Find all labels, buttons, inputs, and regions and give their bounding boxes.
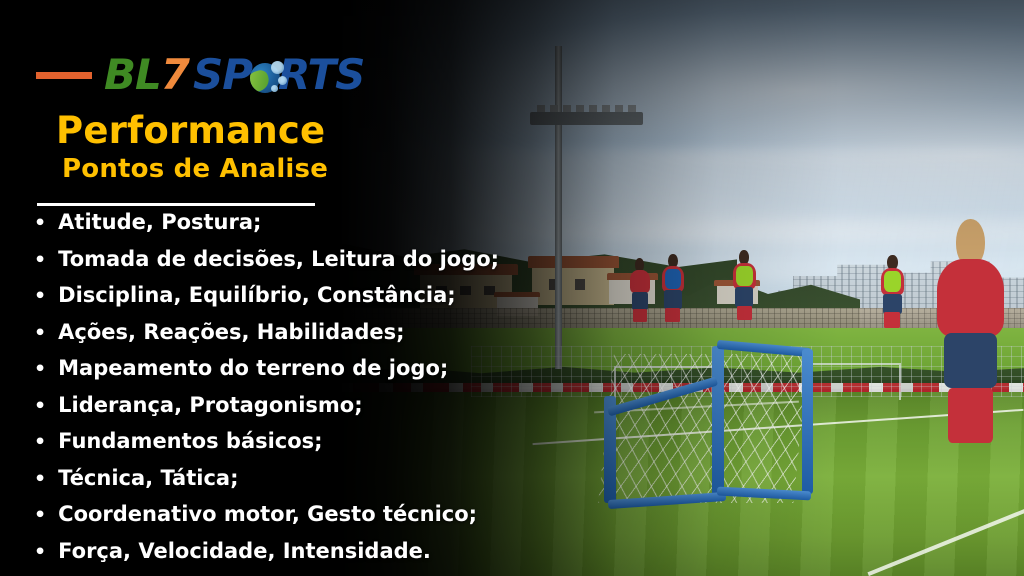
bullet-marker-icon: • bbox=[34, 251, 46, 270]
list-item-label: Ações, Reações, Habilidades; bbox=[58, 322, 404, 343]
list-item-label: Coordenativo motor, Gesto técnico; bbox=[58, 504, 477, 525]
list-item: •Mapeamento do terreno de jogo; bbox=[34, 358, 514, 395]
list-item: •Tomada de decisões, Leitura do jogo; bbox=[34, 249, 514, 286]
list-item-label: Técnica, Tática; bbox=[58, 468, 238, 489]
list-item-label: Fundamentos básicos; bbox=[58, 431, 322, 452]
list-item-label: Disciplina, Equilíbrio, Constância; bbox=[58, 285, 456, 306]
bl7-sports-logo: BL7SP RTS bbox=[36, 52, 364, 98]
logo-seven-text: 7 bbox=[161, 50, 189, 99]
list-item-label: Mapeamento do terreno de jogo; bbox=[58, 358, 448, 379]
bullet-marker-icon: • bbox=[34, 543, 46, 562]
logo-bl-text: BL bbox=[104, 50, 161, 99]
bullet-marker-icon: • bbox=[34, 360, 46, 379]
analysis-points-list: •Atitude, Postura;•Tomada de decisões, L… bbox=[34, 212, 514, 576]
bullet-marker-icon: • bbox=[34, 470, 46, 489]
bullet-marker-icon: • bbox=[34, 397, 46, 416]
list-item: •Disciplina, Equilíbrio, Constância; bbox=[34, 285, 514, 322]
list-item-label: Liderança, Protagonismo; bbox=[58, 395, 362, 416]
list-item: •Liderança, Protagonismo; bbox=[34, 395, 514, 432]
bullet-marker-icon: • bbox=[34, 433, 46, 452]
logo-sp-text: SP bbox=[193, 50, 252, 99]
globe-soccer-icon bbox=[250, 63, 280, 93]
slide-content: BL7SP RTS Performance Pontos de Analise … bbox=[0, 0, 1024, 576]
list-item: •Coordenativo motor, Gesto técnico; bbox=[34, 504, 514, 541]
logo-wordmark: BL7SP RTS bbox=[104, 54, 364, 96]
logo-dash bbox=[36, 72, 92, 79]
list-item-label: Atitude, Postura; bbox=[58, 212, 261, 233]
logo-rts-text: RTS bbox=[278, 50, 364, 99]
page-title: Performance bbox=[56, 112, 325, 151]
list-item-label: Força, Velocidade, Intensidade. bbox=[58, 541, 431, 562]
list-item: •Fundamentos básicos; bbox=[34, 431, 514, 468]
list-item: •Atitude, Postura; bbox=[34, 212, 514, 249]
title-divider bbox=[37, 203, 315, 206]
presentation-slide: BL7SP RTS Performance Pontos de Analise … bbox=[0, 0, 1024, 576]
bullet-marker-icon: • bbox=[34, 214, 46, 233]
list-item: •Técnica, Tática; bbox=[34, 468, 514, 505]
bullet-marker-icon: • bbox=[34, 324, 46, 343]
list-item: •Força, Velocidade, Intensidade. bbox=[34, 541, 514, 576]
list-item: •Ações, Reações, Habilidades; bbox=[34, 322, 514, 359]
page-subtitle: Pontos de Analise bbox=[62, 156, 328, 183]
bullet-marker-icon: • bbox=[34, 287, 46, 306]
bullet-marker-icon: • bbox=[34, 506, 46, 525]
list-item-label: Tomada de decisões, Leitura do jogo; bbox=[58, 249, 499, 270]
